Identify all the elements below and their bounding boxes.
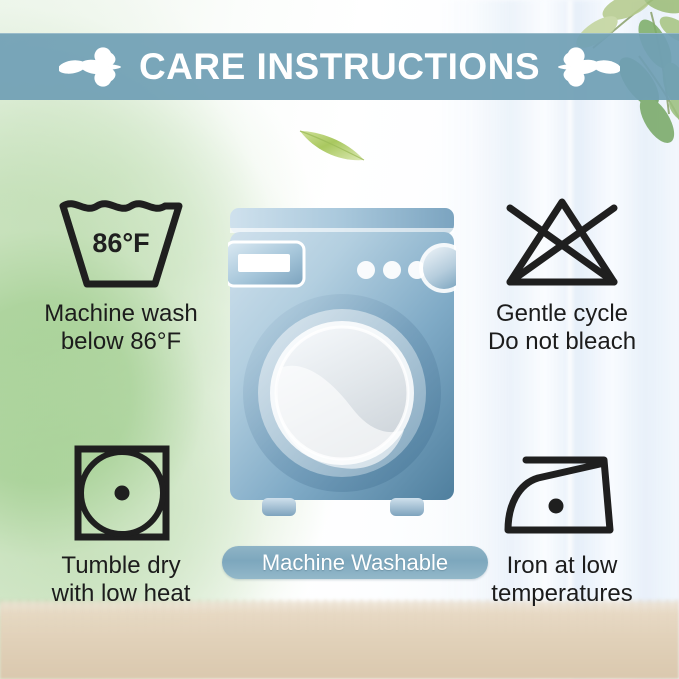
background-wood-table: [0, 599, 679, 679]
wash-temperature-value: 86°F: [92, 228, 149, 258]
page-title: CARE INSTRUCTIONS: [139, 48, 540, 85]
fleur-de-lis-ornament: [558, 44, 620, 90]
care-symbol-caption: Gentle cycle Do not bleach: [452, 300, 672, 356]
control-button-1: [357, 261, 375, 279]
care-instructions-infographic: CARE INSTRUCTIONS 86°F Mac: [0, 0, 679, 679]
wash-basin-icon: 86°F: [12, 192, 230, 292]
badge-label: Machine Washable: [262, 552, 448, 574]
control-button-2: [383, 261, 401, 279]
care-symbol-machine-wash: 86°F Machine wash below 86°F: [12, 192, 230, 356]
care-symbol-caption: Tumble dry with low heat: [12, 552, 230, 608]
washer-foot-right: [390, 498, 424, 516]
care-symbol-tumble-dry-low: Tumble dry with low heat: [12, 444, 230, 608]
care-symbol-gentle-cycle-no-bleach: Gentle cycle Do not bleach: [452, 192, 672, 356]
care-symbol-iron-low-temp: Iron at low temperatures: [452, 444, 672, 608]
tumble-dry-icon: [12, 444, 230, 544]
washer-foot-left: [262, 498, 296, 516]
washing-machine-illustration: [228, 208, 456, 528]
detergent-drawer: [228, 242, 304, 286]
iron-icon: [452, 444, 672, 544]
care-symbol-caption: Machine wash below 86°F: [12, 300, 230, 356]
crossed-triangle-icon: [452, 192, 672, 292]
machine-washable-badge: Machine Washable: [222, 546, 488, 579]
falling-leaf: [296, 122, 368, 168]
fleur-de-lis-ornament: [59, 44, 121, 90]
header-banner: CARE INSTRUCTIONS: [0, 33, 679, 100]
